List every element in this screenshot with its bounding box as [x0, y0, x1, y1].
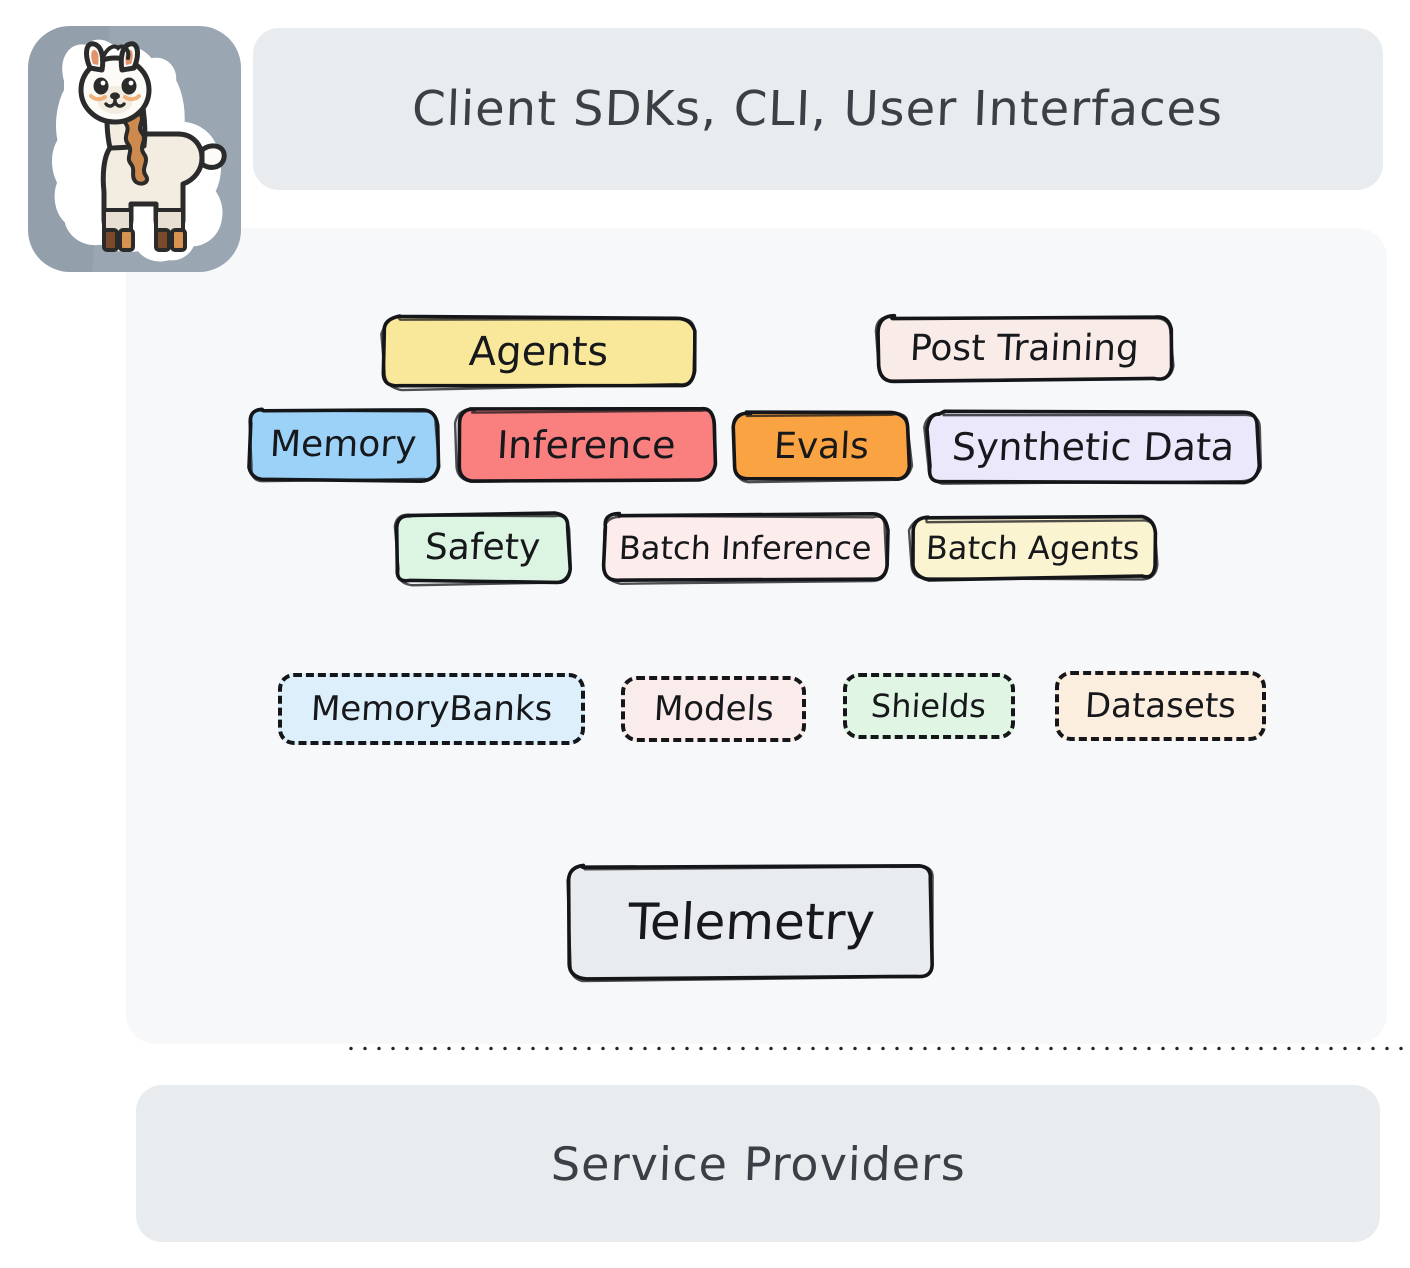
api-box-evals[interactable]: Evals: [735, 413, 908, 480]
resource-box-datasets[interactable]: Datasets: [1055, 671, 1266, 741]
resource-box-datasets-label: Datasets: [1084, 689, 1237, 723]
resource-box-shields[interactable]: Shields: [843, 673, 1015, 739]
api-box-batch-inference-label: Batch Inference: [618, 532, 872, 564]
api-box-post-training-label: Post Training: [909, 331, 1140, 367]
api-box-safety-label: Safety: [424, 530, 541, 566]
resource-box-models-label: Models: [653, 692, 775, 726]
api-box-synthetic-data[interactable]: Synthetic Data: [928, 413, 1258, 481]
telemetry-box[interactable]: Telemetry: [570, 866, 932, 978]
resource-box-memorybanks[interactable]: MemoryBanks: [278, 673, 585, 745]
api-box-inference-label: Inference: [496, 426, 677, 464]
api-box-memory-label: Memory: [269, 427, 417, 463]
api-box-synthetic-data-label: Synthetic Data: [951, 428, 1235, 466]
service-providers-label: Service Providers: [550, 1137, 967, 1191]
api-box-agents-label: Agents: [468, 332, 609, 372]
api-box-memory[interactable]: Memory: [250, 410, 437, 480]
api-box-batch-inference[interactable]: Batch Inference: [605, 515, 886, 580]
telemetry-box-label: Telemetry: [626, 897, 875, 947]
api-box-evals-label: Evals: [773, 429, 870, 465]
client-layer-label: Client SDKs, CLI, User Interfaces: [411, 81, 1224, 137]
llama-stack-panel: AgentsPost TrainingMemoryInferenceEvalsS…: [126, 228, 1387, 1044]
api-box-agents[interactable]: Agents: [385, 318, 693, 386]
resource-box-shields-label: Shields: [871, 690, 988, 722]
llama-icon: [36, 34, 234, 266]
api-box-batch-agents-label: Batch Agents: [925, 532, 1140, 564]
client-layer-banner: Client SDKs, CLI, User Interfaces: [253, 28, 1383, 190]
api-box-batch-agents[interactable]: Batch Agents: [912, 518, 1154, 578]
api-box-inference[interactable]: Inference: [458, 409, 714, 480]
api-box-safety[interactable]: Safety: [397, 514, 569, 582]
resource-box-models[interactable]: Models: [621, 676, 806, 742]
dotted-divider: [344, 1046, 1410, 1051]
llama-logo-tile: [28, 26, 241, 272]
api-box-post-training[interactable]: Post Training: [878, 317, 1170, 380]
service-providers-banner: Service Providers: [136, 1085, 1380, 1242]
resource-box-memorybanks-label: MemoryBanks: [310, 692, 553, 726]
